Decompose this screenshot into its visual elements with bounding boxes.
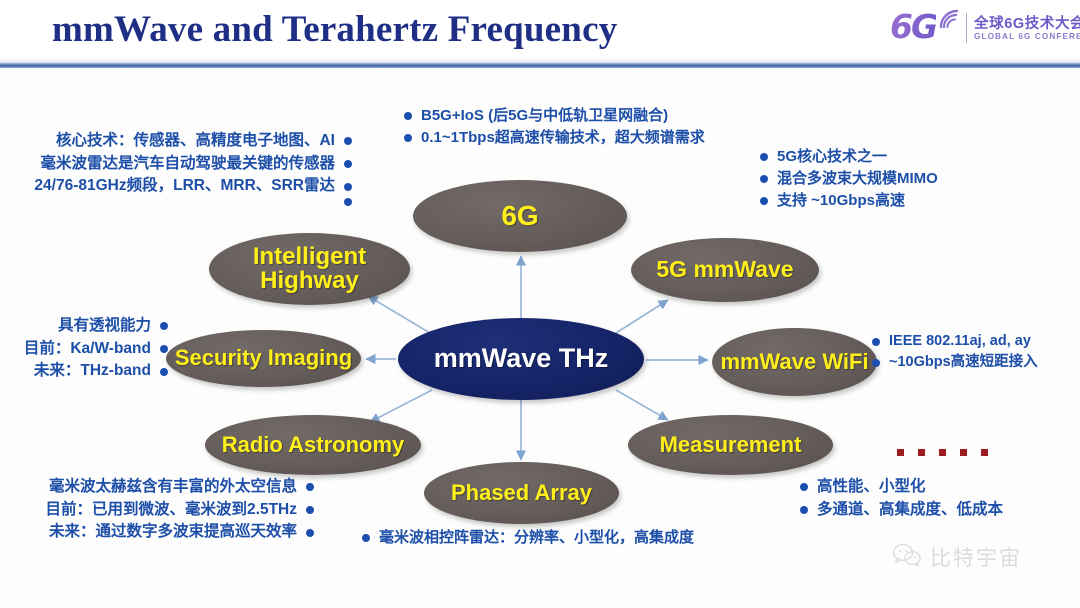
note-line: B5G+IoS (后5G与中低轨卫星网融合)	[404, 105, 705, 127]
watermark-text: 比特宇宙	[930, 542, 1022, 572]
note-text: 目前：已用到微波、毫米波到2.5THz	[46, 499, 297, 522]
edge-center-to-5gmm	[616, 300, 668, 333]
node-5g-mmwave[interactable]: 5G mmWave	[631, 238, 819, 302]
wechat-icon	[892, 543, 922, 572]
node-measurement[interactable]: Measurement	[628, 415, 833, 475]
note-text: B5G+IoS (后5G与中低轨卫星网融合)	[421, 105, 668, 127]
red-dash	[960, 449, 967, 456]
note-text: ~10Gbps高速短距接入	[889, 352, 1038, 373]
note-line: 混合多波束大规模MIMO	[760, 168, 938, 190]
note-line: 5G核心技术之一	[760, 146, 938, 168]
note-text: 毫米波太赫兹含有丰富的外太空信息	[49, 476, 297, 499]
bullet-icon	[160, 345, 168, 353]
note-text: 高性能、小型化	[817, 476, 926, 499]
bullet-icon	[362, 534, 370, 542]
bullet-icon	[306, 529, 314, 537]
notes-intelligent-highway: 核心技术：传感器、高精度电子地图、AI毫米波雷达是汽车自动驾驶最关键的传感器24…	[22, 130, 352, 206]
notes-mmwave-wifi: IEEE 802.11aj, ad, ay~10Gbps高速短距接入	[872, 331, 1038, 373]
note-line: 毫米波太赫兹含有丰富的外太空信息	[14, 476, 314, 499]
edge-center-to-ih	[368, 296, 430, 333]
notes-phased-array: 毫米波相控阵雷达：分辨率、小型化，高集成度	[362, 527, 694, 549]
bullet-icon	[306, 506, 314, 514]
note-line: 0.1~1Tbps超高速传输技术，超大频谱需求	[404, 127, 705, 149]
node-phased-array[interactable]: Phased Array	[424, 462, 619, 524]
bullet-icon	[760, 153, 768, 161]
bullet-icon	[404, 134, 412, 142]
note-line: 核心技术：传感器、高精度电子地图、AI	[22, 130, 352, 153]
note-text: 具有透视能力	[58, 315, 151, 338]
notes-security-imaging: 具有透视能力目前：Ka/W-band未来：THz-band	[18, 315, 168, 383]
note-line: IEEE 802.11aj, ad, ay	[872, 331, 1038, 352]
bullet-icon	[160, 322, 168, 330]
bullet-icon	[404, 112, 412, 120]
note-line: 具有透视能力	[18, 315, 168, 338]
note-line: 毫米波相控阵雷达：分辨率、小型化，高集成度	[362, 527, 694, 549]
bullet-icon	[872, 359, 880, 367]
node-mmwave-wifi[interactable]: mmWave WiFi	[712, 328, 877, 396]
bullet-icon	[760, 197, 768, 205]
red-dash	[897, 449, 904, 456]
red-dash	[981, 449, 988, 456]
note-line: 多通道、高集成度、低成本	[800, 499, 1003, 522]
bullet-icon	[344, 160, 352, 168]
note-line: 目前：已用到微波、毫米波到2.5THz	[14, 499, 314, 522]
bullet-icon	[800, 483, 808, 491]
node-intelligent-highway[interactable]: Intelligent Highway	[209, 233, 410, 305]
note-text: 毫米波雷达是汽车自动驾驶最关键的传感器	[40, 153, 335, 176]
note-line: 支持 ~10Gbps高速	[760, 190, 938, 212]
bullet-icon	[344, 198, 352, 206]
note-text: 24/76-81GHz频段，LRR、MRR、SRR雷达	[34, 175, 335, 198]
bullet-icon	[800, 506, 808, 514]
note-text: IEEE 802.11aj, ad, ay	[889, 331, 1031, 352]
node-radio-astronomy[interactable]: Radio Astronomy	[205, 415, 421, 475]
bullet-icon	[344, 183, 352, 191]
notes-measurement: 高性能、小型化多通道、高集成度、低成本	[800, 476, 1003, 521]
bullet-icon	[872, 338, 880, 346]
note-text: 5G核心技术之一	[777, 146, 887, 168]
red-dash	[939, 449, 946, 456]
note-text: 0.1~1Tbps超高速传输技术，超大频谱需求	[421, 127, 705, 149]
note-text: 毫米波相控阵雷达：分辨率、小型化，高集成度	[379, 527, 694, 549]
bullet-icon	[160, 368, 168, 376]
note-line: ~10Gbps高速短距接入	[872, 352, 1038, 373]
notes-6g: B5G+IoS (后5G与中低轨卫星网融合)0.1~1Tbps超高速传输技术，超…	[404, 105, 705, 149]
slide-canvas: mmWave and Terahertz Frequency 6G 全球6G技术…	[0, 0, 1080, 608]
note-text: 未来：通过数字多波束提高巡天效率	[49, 521, 297, 544]
red-dash	[918, 449, 925, 456]
note-text: 目前：Ka/W-band	[24, 338, 151, 361]
note-line: 高性能、小型化	[800, 476, 1003, 499]
note-line: 未来：THz-band	[18, 360, 168, 383]
note-line: 未来：通过数字多波束提高巡天效率	[14, 521, 314, 544]
note-text: 支持 ~10Gbps高速	[777, 190, 905, 212]
watermark: 比特宇宙	[892, 542, 1022, 572]
note-line: 目前：Ka/W-band	[18, 338, 168, 361]
bullet-icon	[306, 483, 314, 491]
note-line: 毫米波雷达是汽车自动驾驶最关键的传感器	[22, 153, 352, 176]
bullet-icon	[760, 175, 768, 183]
note-text: 混合多波束大规模MIMO	[777, 168, 938, 190]
bullet-icon	[344, 137, 352, 145]
note-text: 多通道、高集成度、低成本	[817, 499, 1003, 522]
note-line: 24/76-81GHz频段，LRR、MRR、SRR雷达	[22, 175, 352, 198]
node-mmwave-thz[interactable]: mmWave THz	[398, 318, 644, 400]
edge-center-to-meas	[616, 390, 668, 420]
node-security-imaging[interactable]: Security Imaging	[166, 330, 361, 387]
note-line	[22, 198, 352, 206]
red-dash-decoration	[897, 449, 988, 456]
notes-5g-mmwave: 5G核心技术之一混合多波束大规模MIMO支持 ~10Gbps高速	[760, 146, 938, 212]
node-6g[interactable]: 6G	[413, 180, 627, 252]
edge-center-to-ra	[370, 390, 432, 422]
notes-radio-astronomy: 毫米波太赫兹含有丰富的外太空信息目前：已用到微波、毫米波到2.5THz未来：通过…	[14, 476, 314, 544]
note-text: 未来：THz-band	[34, 360, 151, 383]
note-text: 核心技术：传感器、高精度电子地图、AI	[56, 130, 335, 153]
